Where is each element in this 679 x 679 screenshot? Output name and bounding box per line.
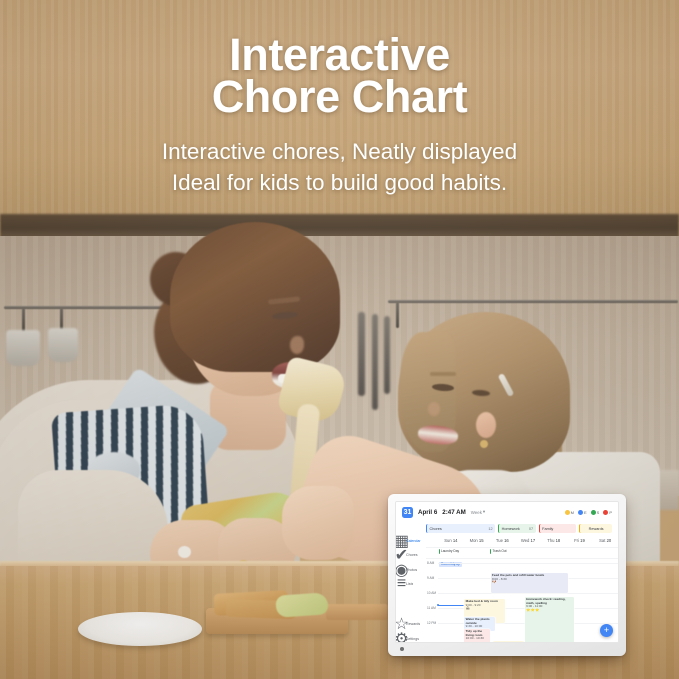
girl-nose [428, 402, 440, 416]
day-number: 17 [531, 538, 536, 543]
avocado-topping [275, 592, 328, 618]
mother-ring [178, 546, 191, 558]
day-header[interactable]: Wed 17 [515, 536, 541, 547]
filter-chip-count: 07 [529, 527, 533, 531]
filter-chip-count: 12 [488, 527, 492, 531]
calendar-event[interactable]: Tidy up the living room10:00 - 10:30 [464, 629, 489, 642]
avatar [578, 510, 583, 515]
app-sidebar[interactable]: ▦Calendar✔Chores◉Photos≡Lists☆Rewards⚙Se… [396, 536, 426, 642]
girl-hand [282, 486, 354, 560]
filter-chip-homework[interactable]: Homework07 [498, 524, 536, 533]
sidebar-item-chores[interactable]: ✔Chores [396, 552, 426, 559]
current-date-label: April 6 [418, 509, 437, 516]
member-avatar[interactable]: M [565, 510, 574, 515]
view-selector[interactable]: Week ▾ [471, 509, 485, 515]
sidebar-item-photos[interactable]: ◉Photos [396, 566, 426, 573]
sidebar-item-label: Rewards [406, 622, 420, 626]
hour-label: 10 AM [427, 591, 436, 595]
sidebar-item-rewards[interactable]: ☆Rewards [396, 621, 426, 628]
girl-eyebrow [430, 372, 456, 376]
avatar [591, 510, 596, 515]
all-day-event[interactable]: Laundry Day [439, 549, 463, 554]
hanging-rail-right [388, 300, 678, 303]
calendar-event[interactable]: Feed the pets and refill water bowls8:00… [491, 573, 569, 593]
girl-earring [480, 440, 488, 448]
current-time-indicator [438, 605, 464, 606]
chevron-down-icon: ▾ [483, 509, 485, 515]
member-avatar[interactable]: P [603, 510, 612, 515]
sidebar-item-label: Settings [406, 637, 419, 641]
all-day-cell[interactable] [464, 548, 490, 558]
day-header[interactable]: Sat 20 [592, 536, 618, 547]
day-header-row: Sun 14Mon 15Tue 16Wed 17Thu 18Fri 19Sat … [426, 536, 618, 548]
hour-label: 11 AM [427, 606, 436, 610]
calendar-event[interactable]: Homework check: reading, math, spelling9… [525, 597, 574, 642]
current-time-label: 2:47 AM [442, 509, 466, 516]
view-selector-label: Week [471, 510, 482, 515]
all-day-cell[interactable] [592, 548, 618, 558]
category-filter-chips[interactable]: Chores12Homework07FamilyRewards [396, 522, 618, 536]
hanging-mug [48, 328, 78, 362]
member-initial: E [584, 510, 587, 515]
tablet-screen[interactable]: 31 April 6 2:47 AM Week ▾ MESP Chores12H… [395, 501, 619, 643]
sidebar-item-lists[interactable]: ≡Lists [396, 581, 426, 588]
sidebar-item-calendar[interactable]: ▦Calendar [396, 537, 426, 544]
hour-gridline [438, 593, 618, 594]
event-time: 9:00 - 11:00 [526, 605, 572, 609]
mother-hair [170, 222, 340, 372]
cutting-board-secondary [326, 604, 388, 620]
chores-icon: ✔ [399, 553, 404, 558]
utensil-silhouette [384, 316, 390, 394]
headline-line-1: Interactive [0, 34, 679, 76]
calendar-event[interactable]: Set the table for dinner11:00 - 11:20🍽 [493, 641, 524, 642]
sidebar-item-label: Chores [406, 553, 418, 557]
avatar [565, 510, 570, 515]
sidebar-item-label: Calendar [406, 539, 421, 543]
day-number: 19 [580, 538, 585, 543]
filter-chip-label: Chores [430, 527, 442, 531]
photos-icon: ◉ [399, 567, 404, 572]
camera-sensor-icon [400, 647, 404, 651]
day-header[interactable]: Fri 19 [567, 536, 593, 547]
filter-chip-family[interactable]: Family [539, 524, 577, 533]
app-body: ▦Calendar✔Chores◉Photos≡Lists☆Rewards⚙Se… [396, 536, 618, 642]
filter-chip-label: Rewards [589, 527, 604, 531]
hero-headline-block: Interactive Chore Chart Interactive chor… [0, 34, 679, 198]
hour-label: 12 PM [427, 621, 436, 625]
subheadline-line-2: Ideal for kids to build good habits. [0, 167, 679, 198]
calendar-app-logo-icon[interactable]: 31 [402, 507, 413, 518]
day-number: 20 [607, 538, 612, 543]
day-header[interactable]: Mon 15 [464, 536, 490, 547]
sidebar-spacer [396, 595, 426, 613]
hanging-rail-left [4, 306, 174, 309]
hanging-mug [6, 330, 40, 366]
time-grid[interactable]: + 8 AM9 AM10 AM11 AM12 PMFeed the pets a… [426, 559, 618, 642]
rewards-icon: ☆ [399, 622, 404, 627]
day-header[interactable]: Sun 14 [438, 536, 464, 547]
day-number: 14 [453, 538, 458, 543]
filter-chip-label: Family [542, 527, 553, 531]
settings-icon: ⚙ [399, 636, 404, 641]
all-day-cell[interactable]: Laundry DayRoom tidy-up [438, 548, 464, 558]
day-header[interactable]: Tue 16 [489, 536, 515, 547]
calendar-grid-wrapper: Sun 14Mon 15Tue 16Wed 17Thu 18Fri 19Sat … [426, 536, 618, 642]
member-avatars[interactable]: MESP [565, 510, 612, 515]
all-day-event[interactable]: Trash Out [490, 549, 514, 554]
day-number: 15 [479, 538, 484, 543]
event-time: 10:00 - 10:30 [466, 637, 489, 641]
app-header: 31 April 6 2:47 AM Week ▾ MESP [396, 502, 618, 522]
member-avatar[interactable]: E [578, 510, 587, 515]
sidebar-item-label: Photos [406, 568, 417, 572]
all-day-cell[interactable] [567, 548, 593, 558]
mother-nose [290, 336, 304, 354]
member-initial: M [571, 510, 574, 515]
hour-label: 9 AM [427, 576, 434, 580]
sidebar-item-label: Lists [406, 582, 413, 586]
calendar-icon: ▦ [399, 538, 404, 543]
sidebar-item-settings[interactable]: ⚙Settings [396, 635, 426, 642]
all-day-row[interactable]: Laundry DayRoom tidy-upTrash Out [426, 548, 618, 559]
hour-label: 8 AM [427, 561, 434, 565]
event-time: 9:00 - 9:20 [466, 604, 504, 608]
tablet-device[interactable]: 31 April 6 2:47 AM Week ▾ MESP Chores12H… [388, 494, 626, 656]
girl-ear [476, 412, 496, 438]
day-number: 16 [504, 538, 509, 543]
event-time: 8:00 - 8:30 [492, 578, 567, 582]
rail-hook [396, 302, 399, 328]
member-avatar[interactable]: S [591, 510, 600, 515]
subheadline-line-1: Interactive chores, Neatly displayed [0, 136, 679, 167]
all-day-cell[interactable] [515, 548, 541, 558]
filter-chip-chores[interactable]: Chores12 [426, 524, 495, 533]
filter-chip-rewards[interactable]: Rewards [579, 524, 612, 533]
member-initial: S [597, 510, 600, 515]
all-day-cell[interactable] [541, 548, 567, 558]
create-event-fab[interactable]: + [600, 624, 613, 637]
utensil-silhouette [372, 314, 378, 410]
avatar [603, 510, 608, 515]
day-number: 18 [556, 538, 561, 543]
member-initial: P [609, 510, 612, 515]
hour-gridline [438, 563, 618, 564]
day-header[interactable]: Thu 18 [541, 536, 567, 547]
filter-chip-label: Homework [502, 527, 520, 531]
white-plate [78, 612, 202, 646]
utensil-silhouette [358, 312, 365, 396]
all-day-cell[interactable]: Trash Out [489, 548, 515, 558]
headline-line-2: Chore Chart [0, 76, 679, 118]
lists-icon: ≡ [399, 582, 404, 587]
